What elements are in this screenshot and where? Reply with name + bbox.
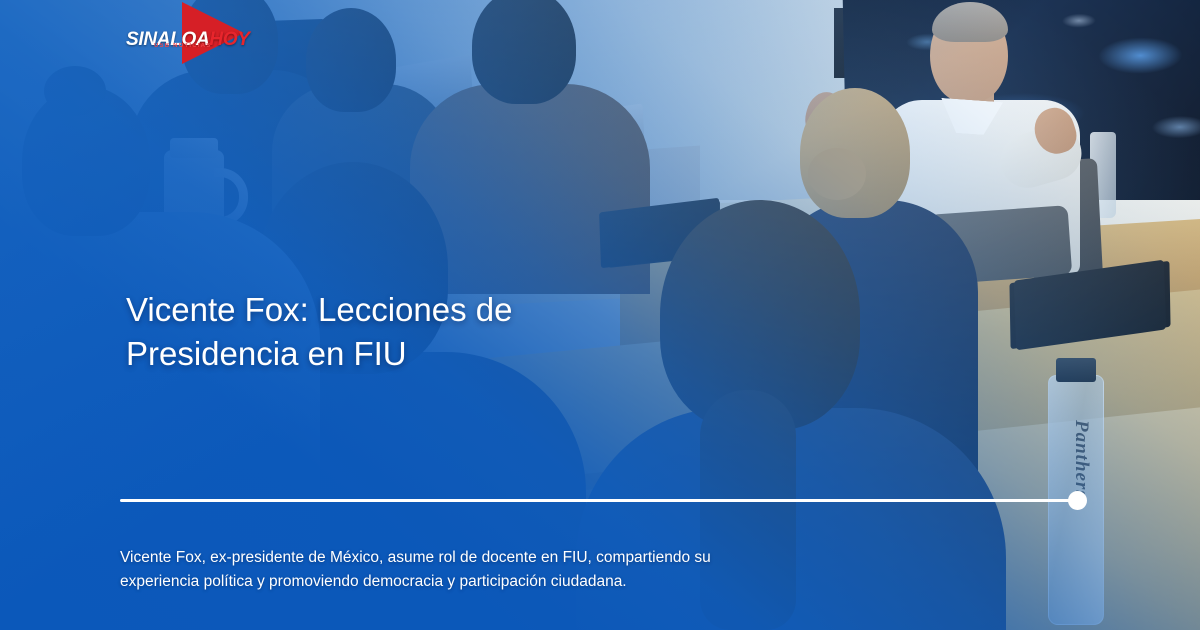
site-logo[interactable]: SINALOAHOY USB NOTICIAS bbox=[126, 16, 272, 62]
news-share-card: Panthers SINALOAHOY USB NOTICIAS Vicente… bbox=[0, 0, 1200, 630]
logo-word-accent: HOY bbox=[209, 29, 249, 50]
logo-tagline: USB NOTICIAS bbox=[154, 43, 211, 49]
divider-line bbox=[120, 499, 1078, 502]
article-summary: Vicente Fox, ex-presidente de México, as… bbox=[120, 546, 760, 593]
page-title: Vicente Fox: Lecciones de Presidencia en… bbox=[126, 288, 686, 375]
divider-end-dot bbox=[1068, 491, 1087, 510]
